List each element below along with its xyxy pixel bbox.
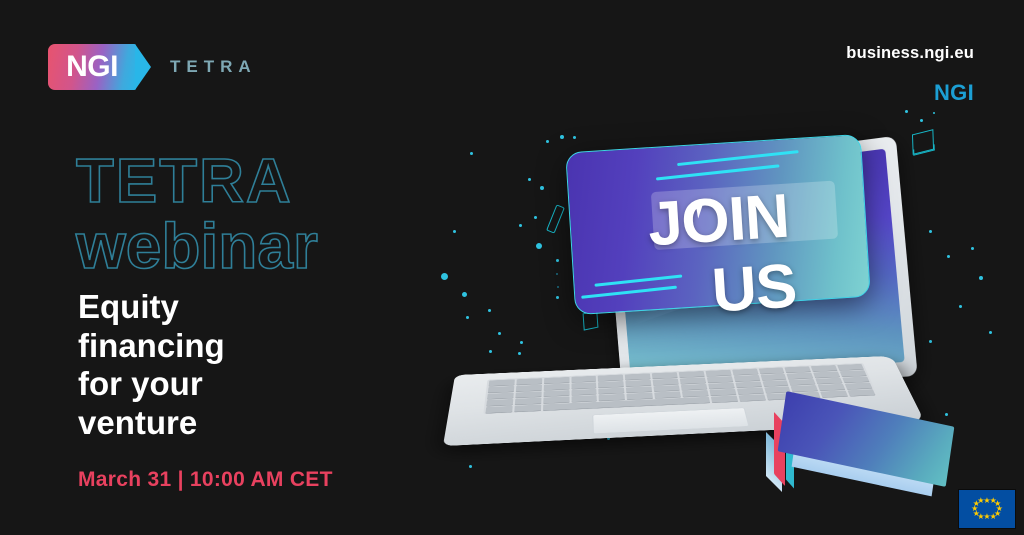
keyboard-key bbox=[791, 385, 818, 392]
keyboard-key bbox=[681, 384, 707, 391]
keyboard-key bbox=[789, 379, 816, 386]
eu-star: ★ bbox=[983, 513, 990, 521]
keyboard-key bbox=[515, 398, 541, 405]
keyboard-key bbox=[818, 384, 845, 391]
subtitle-line-1: Equity bbox=[78, 288, 225, 327]
schedule-datetime: March 31 | 10:00 AM CET bbox=[78, 468, 333, 492]
keyboard-key bbox=[626, 386, 652, 393]
card-accent-line bbox=[656, 164, 780, 180]
eu-star: ★ bbox=[990, 513, 997, 521]
keyboard-key bbox=[682, 390, 709, 397]
keyboard-key bbox=[711, 396, 738, 403]
keyboard-key bbox=[486, 399, 513, 406]
webinar-promo-banner: NGI TETRA business.ngi.eu NGI TETRA webi… bbox=[0, 0, 1024, 535]
keyboard-key bbox=[848, 389, 876, 396]
eu-flag: ★ ★ ★ ★ ★ ★ ★ ★ ★ ★ ★ ★ bbox=[958, 489, 1016, 529]
ngi-logo-badge: NGI bbox=[48, 44, 136, 90]
keyboard-key bbox=[485, 406, 512, 413]
keyboard-key bbox=[487, 392, 514, 399]
eu-star: ★ bbox=[977, 497, 984, 505]
ngi-tetra-logo[interactable]: NGI TETRA bbox=[48, 44, 257, 90]
card-accent-line bbox=[594, 274, 682, 286]
keyboard-key bbox=[514, 405, 541, 412]
keyboard-key bbox=[735, 381, 762, 388]
keyboard-key bbox=[709, 389, 736, 396]
keyboard-key bbox=[654, 391, 680, 398]
keyboard-key bbox=[707, 376, 733, 383]
tetra-program-label: TETRA bbox=[170, 57, 257, 77]
keyboard-key bbox=[599, 394, 625, 401]
keyboard-key bbox=[627, 393, 653, 400]
card-accent-line bbox=[677, 150, 799, 166]
keyboard-key bbox=[571, 382, 597, 389]
keyboard-key bbox=[571, 389, 597, 396]
keyboard-key bbox=[787, 372, 814, 378]
keyboard-key bbox=[816, 378, 843, 385]
us-label: US bbox=[710, 255, 798, 322]
subtitle-line-3: for your bbox=[78, 365, 225, 404]
keyboard-key bbox=[820, 391, 848, 398]
keyboard-key bbox=[599, 387, 625, 394]
keyboard-key bbox=[762, 380, 789, 387]
keyboard-key bbox=[515, 391, 541, 398]
keyboard-key bbox=[543, 397, 569, 404]
headline-line-1: TETRA bbox=[76, 152, 318, 212]
keyboard-key bbox=[626, 380, 652, 387]
subtitle-line-4: venture bbox=[78, 404, 225, 443]
book-illustration bbox=[752, 404, 952, 514]
page-title: TETRA webinar bbox=[76, 152, 318, 277]
card-accent-line bbox=[581, 286, 677, 299]
webinar-subtitle: Equity financing for your venture bbox=[78, 288, 225, 442]
join-label: JOIN bbox=[646, 186, 790, 257]
eu-flag-stars: ★ ★ ★ ★ ★ ★ ★ ★ ★ ★ ★ ★ bbox=[959, 490, 1015, 528]
keyboard-key bbox=[737, 388, 764, 395]
headline-line-2: webinar bbox=[76, 216, 318, 277]
keyboard-key bbox=[842, 376, 869, 383]
ngi-badge-label: NGI bbox=[66, 52, 118, 82]
brand-website-url[interactable]: business.ngi.eu bbox=[846, 44, 974, 63]
badge-arrow-icon bbox=[135, 44, 151, 90]
keyboard-key bbox=[543, 383, 569, 390]
keyboard-key bbox=[654, 385, 680, 392]
subtitle-line-2: financing bbox=[78, 327, 225, 366]
laptop-trackpad bbox=[592, 408, 749, 435]
keyboard-key bbox=[845, 383, 872, 390]
keyboard-key bbox=[571, 395, 597, 402]
keyboard-key bbox=[708, 382, 734, 389]
keyboard-key bbox=[543, 390, 569, 397]
brand-ngi-label: NGI bbox=[934, 80, 974, 106]
keyboard-key bbox=[738, 394, 765, 401]
